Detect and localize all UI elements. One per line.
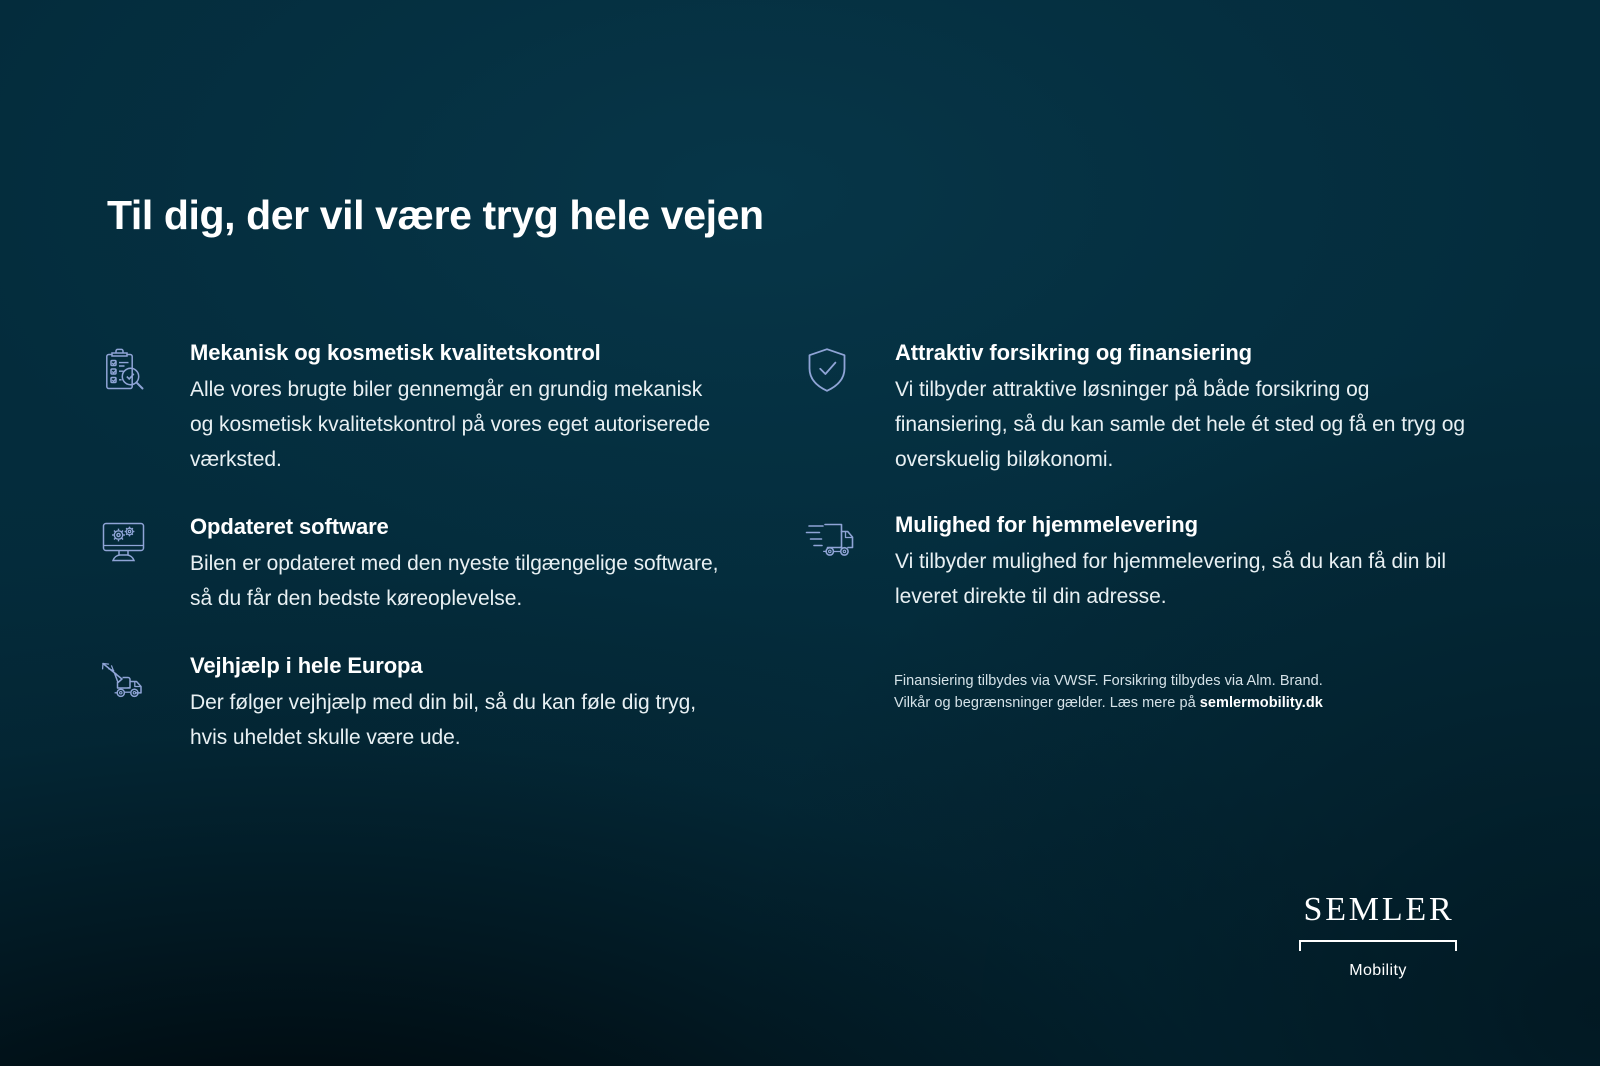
feature-item: Attraktiv forsikring og finansiering Vi … (805, 340, 1485, 477)
feature-body: Attraktiv forsikring og finansiering Vi … (895, 340, 1485, 477)
feature-item: Vejhjælp i hele Europa Der følger vejhjæ… (100, 653, 740, 755)
feature-body: Mekanisk og kosmetisk kvalitetskontrol A… (190, 340, 740, 477)
feature-title: Vejhjælp i hele Europa (190, 653, 740, 679)
shield-check-icon (805, 340, 861, 392)
feature-title: Opdateret software (190, 514, 740, 540)
clipboard-checklist-magnifier-icon (100, 340, 156, 392)
page-title: Til dig, der vil være tryg hele vejen (107, 192, 764, 239)
feature-column-right: Attraktiv forsikring og finansiering Vi … (805, 340, 1485, 614)
logo-bracket-rule (1299, 940, 1457, 953)
legal-line-1: Finansiering tilbydes via VWSF. Forsikri… (894, 670, 1323, 692)
slide-canvas: Til dig, der vil være tryg hele vejen (0, 0, 1600, 1066)
feature-body: Vejhjælp i hele Europa Der følger vejhjæ… (190, 653, 740, 755)
monitor-gears-icon (100, 514, 156, 566)
logo-subtitle: Mobility (1299, 962, 1457, 980)
semler-mobility-logo: SEMLER Mobility (1299, 893, 1457, 980)
feature-description: Vi tilbyder mulighed for hjemmelevering,… (895, 544, 1475, 614)
feature-item: Opdateret software Bilen er opdateret me… (100, 514, 740, 616)
feature-description: Der følger vejhjælp med din bil, så du k… (190, 685, 725, 755)
feature-description: Vi tilbyder attraktive løsninger på både… (895, 372, 1475, 477)
tow-truck-icon (100, 653, 156, 705)
delivery-truck-icon (805, 512, 861, 564)
legal-line-2-text: Vilkår og begrænsninger gælder. Læs mere… (894, 695, 1200, 711)
legal-line-2: Vilkår og begrænsninger gælder. Læs mere… (894, 692, 1323, 714)
feature-description: Bilen er opdateret med den nyeste tilgæn… (190, 546, 725, 616)
feature-title: Attraktiv forsikring og finansiering (895, 340, 1485, 366)
feature-body: Opdateret software Bilen er opdateret me… (190, 514, 740, 616)
logo-wordmark: SEMLER (1299, 893, 1457, 927)
feature-title: Mekanisk og kosmetisk kvalitetskontrol (190, 340, 740, 366)
feature-description: Alle vores brugte biler gennemgår en gru… (190, 372, 725, 477)
feature-body: Mulighed for hjemmelevering Vi tilbyder … (895, 512, 1485, 614)
feature-title: Mulighed for hjemmelevering (895, 512, 1485, 538)
semlermobility-link[interactable]: semlermobility.dk (1200, 695, 1323, 711)
legal-disclaimer: Finansiering tilbydes via VWSF. Forsikri… (894, 670, 1323, 714)
feature-item: Mekanisk og kosmetisk kvalitetskontrol A… (100, 340, 740, 477)
feature-item: Mulighed for hjemmelevering Vi tilbyder … (805, 512, 1485, 614)
feature-column-left: Mekanisk og kosmetisk kvalitetskontrol A… (100, 340, 740, 755)
